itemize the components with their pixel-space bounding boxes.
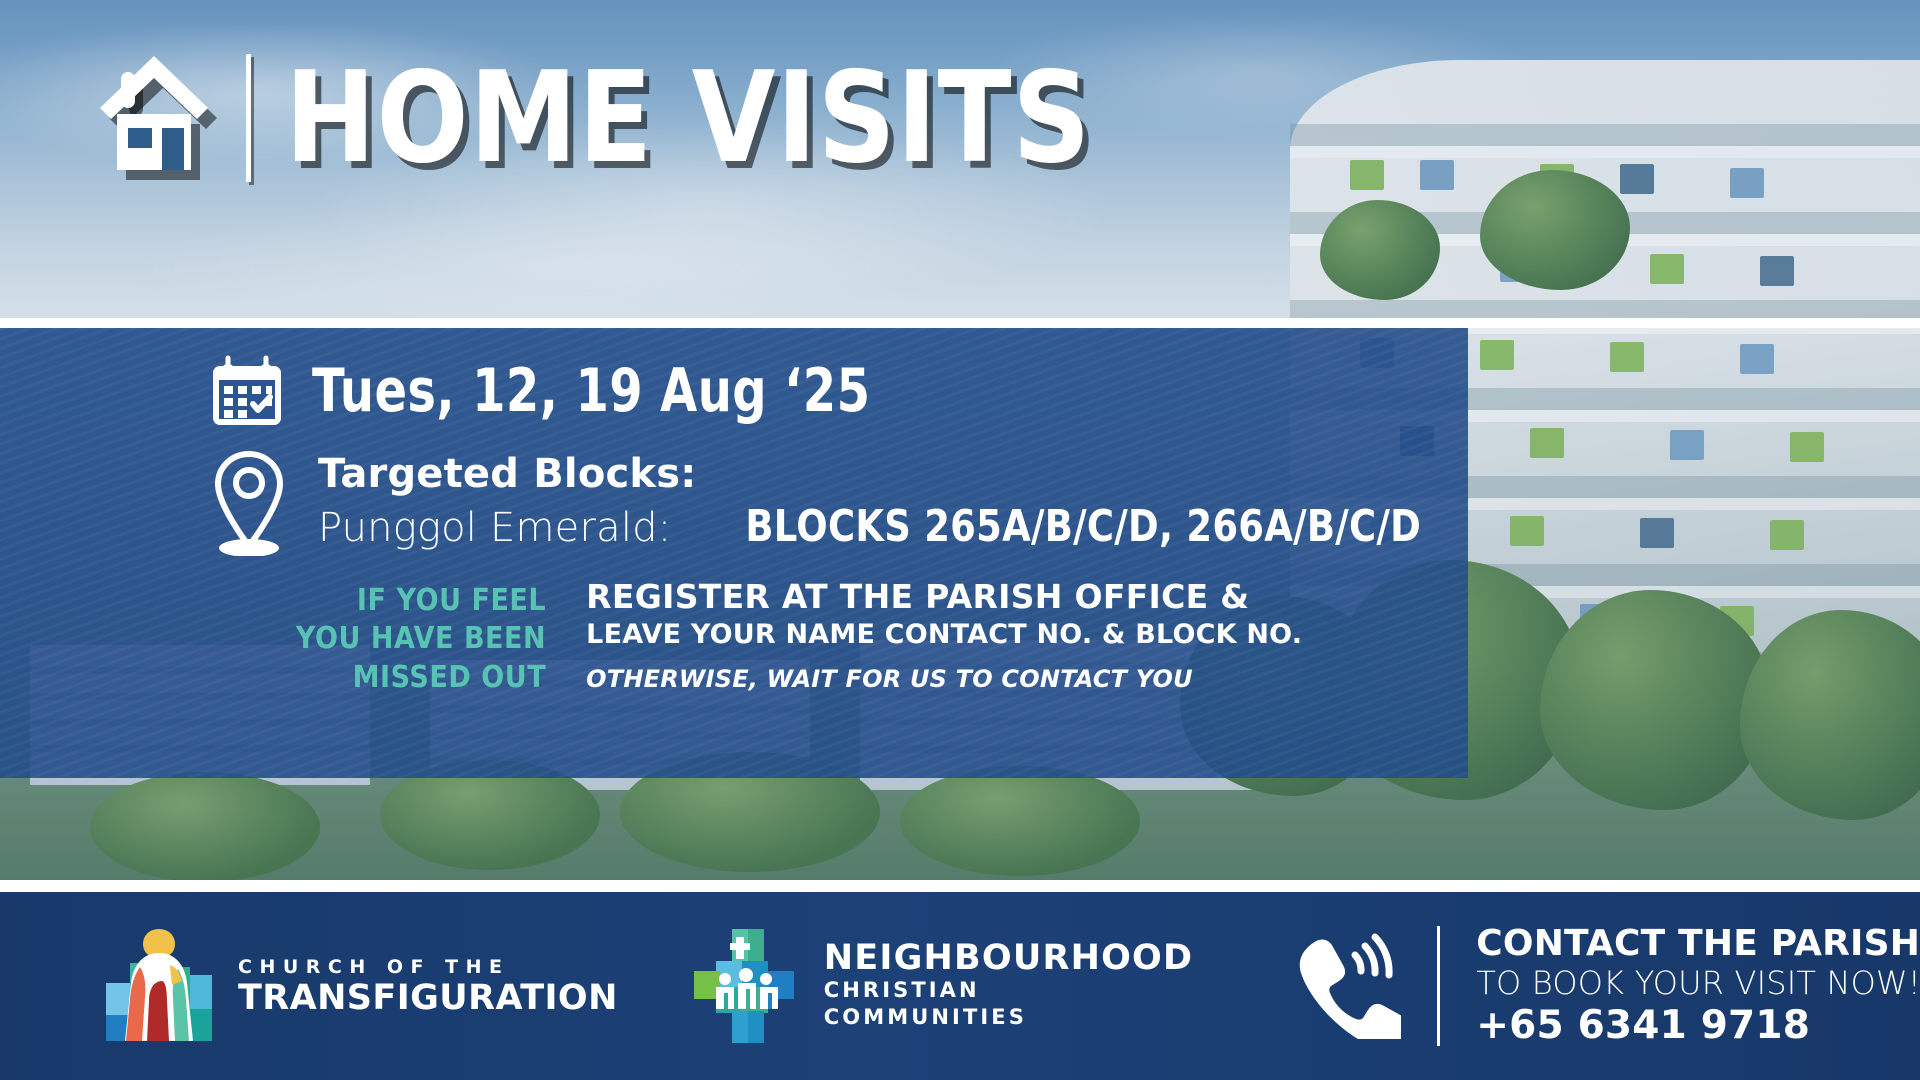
divider-stripe-top [0,318,1920,328]
divider-stripe-bottom [0,880,1920,892]
contact-line-2: TO BOOK YOUR VISIT NOW! [1476,964,1920,1004]
contact-block: CONTACT THE PARISH OFFICE TO BOOK YOUR V… [1291,923,1920,1050]
neighbourhood-logo-block: NEIGHBOURHOOD CHRISTIAN COMMUNITIES [692,927,1194,1045]
register-line-1: REGISTER AT THE PARISH OFFICE & [586,578,1302,617]
info-panel: Tues, 12, 19 Aug ‘25 Targeted Blocks: Pu… [0,328,1468,778]
title-divider [246,54,251,182]
page-title: HOME VISITS [285,55,1091,181]
event-date: Tues, 12, 19 Aug ‘25 [312,361,870,421]
transfiguration-logo-block: CHURCH OF THE TRANSFIGURATION [100,923,618,1049]
neighbourhood-line-1: NEIGHBOURHOOD [824,940,1194,977]
date-row: Tues, 12, 19 Aug ‘25 [210,354,1010,428]
missed-out-line-2: YOU HAVE BEEN [296,620,546,658]
missed-out-note: IF YOU FEEL YOU HAVE BEEN MISSED OUT [296,578,546,697]
contact-divider [1437,926,1440,1046]
register-line-3: OTHERWISE, WAIT FOR US TO CONTACT YOU [586,665,1302,693]
phone-ringing-icon [1291,933,1401,1039]
register-instructions: REGISTER AT THE PARISH OFFICE & LEAVE YO… [586,578,1302,693]
block-numbers: BLOCKS 265A/B/C/D, 266A/B/C/D [746,501,1422,552]
contact-line-1: CONTACT THE PARISH OFFICE [1476,923,1920,964]
targeted-blocks-label: Targeted Blocks: [318,452,1468,497]
estate-name: Punggol Emerald: [318,505,671,551]
contact-phone-number[interactable]: +65 6341 9718 [1476,1003,1920,1049]
neighbourhood-cross-logo-icon [692,927,804,1045]
register-line-2: LEAVE YOUR NAME CONTACT NO. & BLOCK NO. [586,617,1302,653]
location-row: Targeted Blocks: Punggol Emerald: BLOCKS… [210,448,1468,556]
house-icon [100,52,228,184]
missed-out-line-3: MISSED OUT [296,659,546,697]
location-pin-icon [210,448,288,556]
transfiguration-line-1: CHURCH OF THE [238,956,618,980]
poster-header: HOME VISITS [100,52,1223,184]
transfiguration-line-2: TRANSFIGURATION [238,980,618,1017]
poster-canvas: HOME VISITS [0,0,1920,1080]
neighbourhood-line-2: CHRISTIAN COMMUNITIES [824,977,1194,1032]
register-row: IF YOU FEEL YOU HAVE BEEN MISSED OUT REG… [268,578,1302,697]
missed-out-line-1: IF YOU FEEL [296,582,546,620]
calendar-icon [210,354,284,428]
poster-footer: CHURCH OF THE TRANSFIGURATION [0,892,1920,1080]
transfiguration-logo-icon [100,923,218,1049]
